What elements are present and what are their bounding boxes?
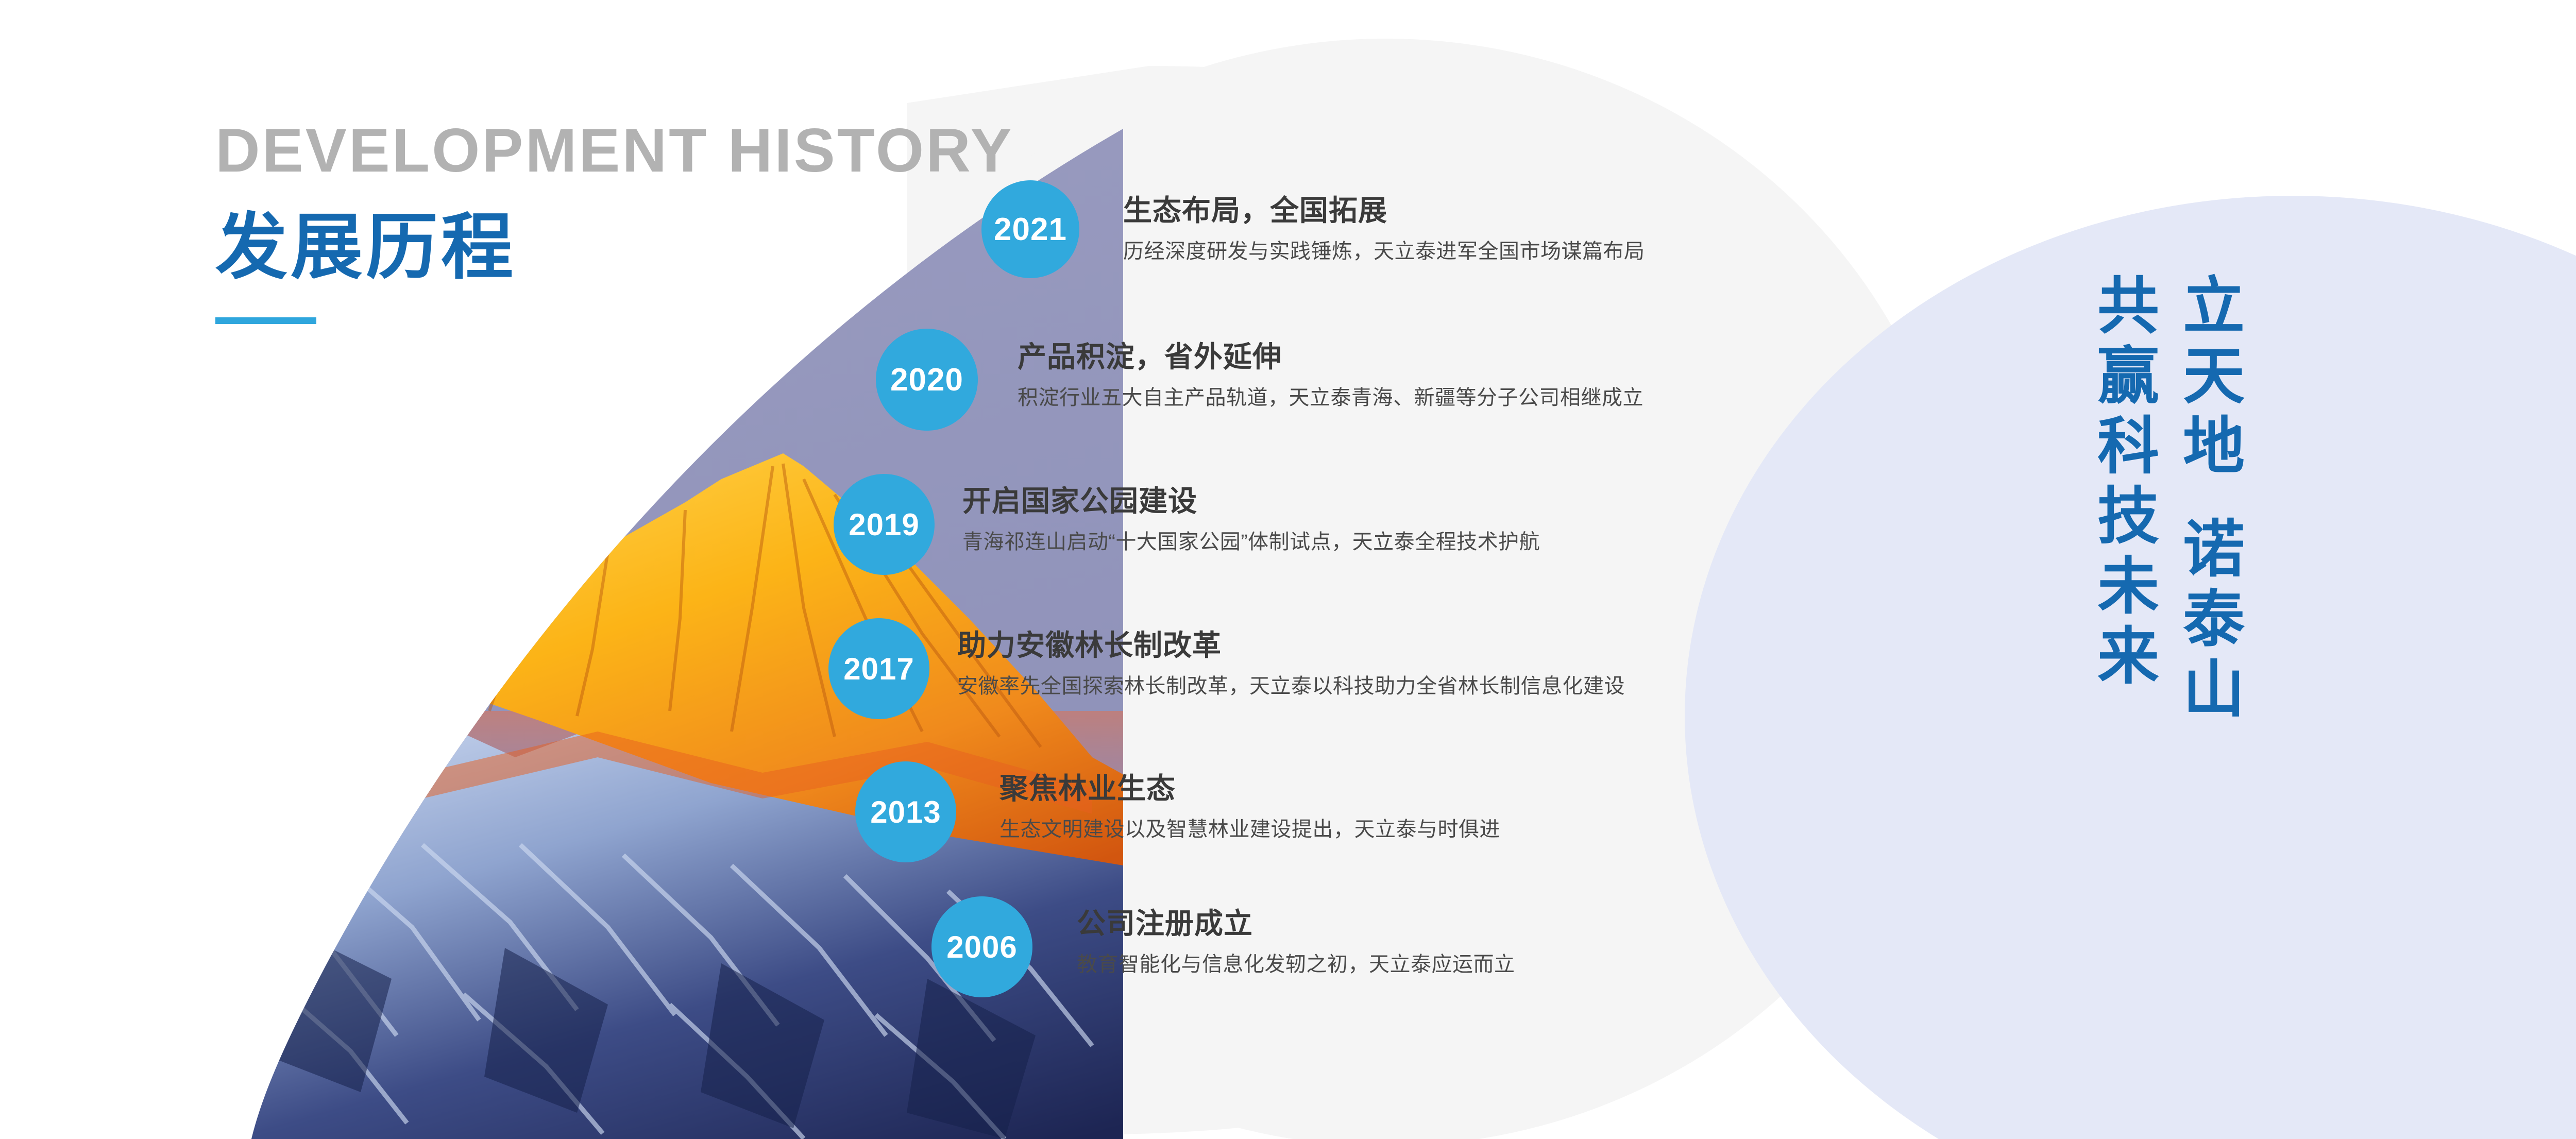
year-label: 2019 bbox=[849, 507, 919, 542]
vertical-slogan: 共赢科技未来 立天地 诺泰山 bbox=[2092, 273, 2239, 726]
timeline-desc: 青海祁连山启动“十大国家公园”体制试点，天立泰全程技术护航 bbox=[962, 531, 1540, 553]
slogan-right-bottom: 诺泰山 bbox=[2177, 516, 2239, 726]
year-label: 2020 bbox=[890, 362, 963, 398]
timeline-desc: 积淀行业五大自主产品轨道，天立泰青海、新疆等分子公司相继成立 bbox=[1018, 386, 1643, 409]
slide-canvas: DEVELOPMENT HISTORY 发展历程 2021 生态布局，全国拓展 … bbox=[0, 0, 2576, 1139]
year-badge-2006[interactable]: 2006 bbox=[931, 896, 1032, 997]
year-badge-2013[interactable]: 2013 bbox=[855, 761, 956, 862]
timeline-text-2020: 产品积淀，省外延伸 积淀行业五大自主产品轨道，天立泰青海、新疆等分子公司相继成立 bbox=[1018, 341, 1643, 409]
year-label: 2006 bbox=[946, 929, 1017, 965]
year-label: 2017 bbox=[843, 651, 914, 687]
timeline-title: 助力安徽林长制改革 bbox=[957, 630, 1625, 661]
timeline-text-2017: 助力安徽林长制改革 安徽率先全国探索林长制改革，天立泰以科技助力全省林长制信息化… bbox=[957, 630, 1625, 698]
year-label: 2013 bbox=[870, 794, 941, 830]
timeline-text-2021: 生态布局，全国拓展 历经深度研发与实践锤炼，天立泰进军全国市场谋篇布局 bbox=[1123, 195, 1645, 263]
timeline-desc: 生态文明建设以及智慧林业建设提出，天立泰与时俱进 bbox=[999, 818, 1500, 841]
timeline-desc: 教育智能化与信息化发轫之初，天立泰应运而立 bbox=[1077, 953, 1515, 976]
timeline-desc: 安徽率先全国探索林长制改革，天立泰以科技助力全省林长制信息化建设 bbox=[957, 675, 1625, 698]
year-badge-2020[interactable]: 2020 bbox=[876, 329, 978, 431]
timeline-title: 公司注册成立 bbox=[1077, 908, 1515, 940]
year-label: 2021 bbox=[994, 211, 1067, 248]
timeline-title: 生态布局，全国拓展 bbox=[1123, 195, 1645, 227]
year-badge-2021[interactable]: 2021 bbox=[981, 180, 1079, 278]
timeline-title: 聚焦林业生态 bbox=[999, 773, 1500, 805]
timeline-text-2019: 开启国家公园建设 青海祁连山启动“十大国家公园”体制试点，天立泰全程技术护航 bbox=[962, 485, 1540, 553]
timeline-title: 产品积淀，省外延伸 bbox=[1018, 341, 1643, 373]
slogan-column-left: 共赢科技未来 bbox=[2092, 273, 2154, 726]
slogan-right-top: 立天地 bbox=[2177, 273, 2239, 483]
timeline-text-2006: 公司注册成立 教育智能化与信息化发轫之初，天立泰应运而立 bbox=[1077, 908, 1515, 976]
timeline-text-2013: 聚焦林业生态 生态文明建设以及智慧林业建设提出，天立泰与时俱进 bbox=[999, 773, 1500, 841]
timeline-title: 开启国家公园建设 bbox=[962, 485, 1540, 517]
year-badge-2017[interactable]: 2017 bbox=[828, 618, 929, 719]
slogan-column-right: 立天地 诺泰山 bbox=[2177, 273, 2239, 726]
timeline-desc: 历经深度研发与实践锤炼，天立泰进军全国市场谋篇布局 bbox=[1123, 240, 1645, 263]
year-badge-2019[interactable]: 2019 bbox=[834, 474, 935, 575]
